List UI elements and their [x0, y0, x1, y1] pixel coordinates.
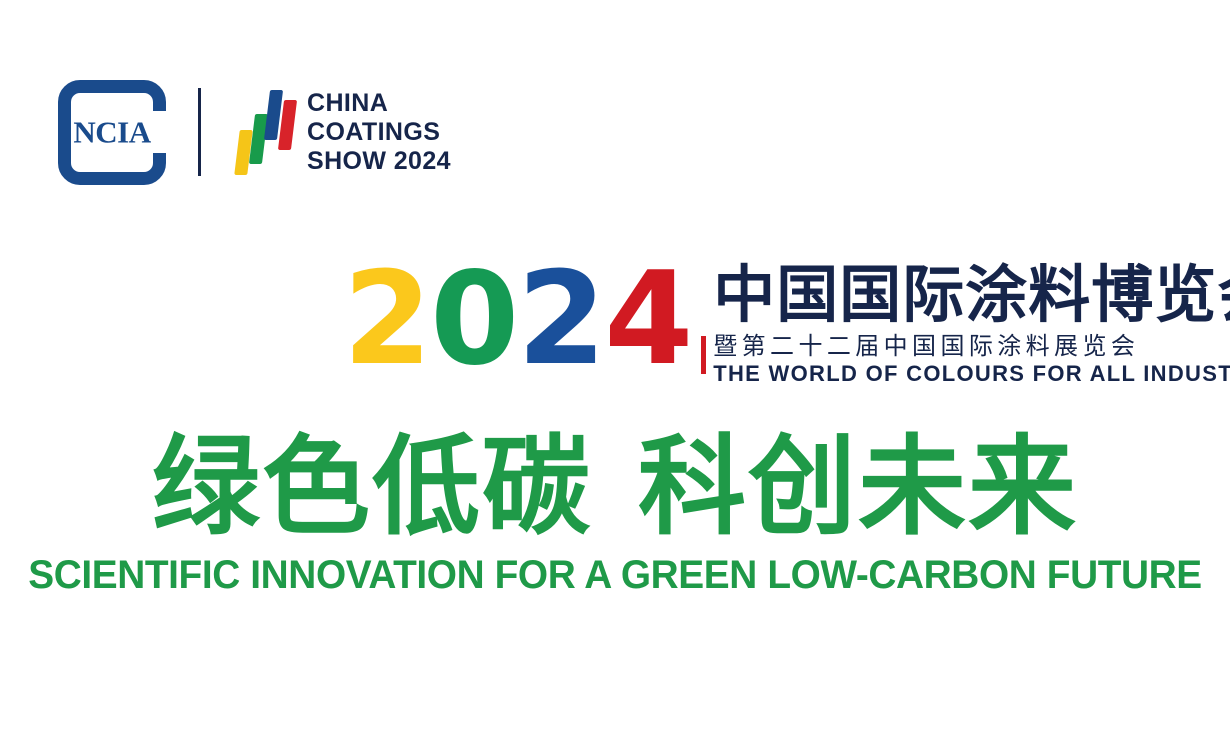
- four-color-bars-icon: [235, 88, 293, 176]
- year-digit-2: 0: [430, 245, 517, 394]
- year-2024: 2024: [343, 262, 691, 378]
- ccs-line-show-year: SHOW 2024: [307, 147, 451, 176]
- slogan-english: SCIENTIFIC INNOVATION FOR A GREEN LOW-CA…: [18, 552, 1211, 598]
- slogan-chinese-part2: 科创未来: [638, 425, 1078, 550]
- logo-divider: [198, 88, 201, 176]
- slogan-chinese-part1: 绿色低碳: [152, 425, 592, 550]
- red-accent-tick: [701, 336, 706, 374]
- event-subtitle-english: THE WORLD OF COLOURS FOR ALL INDUSTRIES: [713, 361, 1230, 387]
- year-digit-1: 2: [343, 245, 430, 394]
- slogan-chinese: 绿色低碳科创未来: [0, 432, 1230, 544]
- ccs-line-coatings: COATINGS: [307, 118, 451, 147]
- china-coatings-show-mark: CHINA COATINGS SHOW 2024: [235, 88, 451, 176]
- year-digit-3: 2: [517, 245, 604, 394]
- ncia-wordmark: NCIA: [58, 117, 166, 148]
- ccs-wordmark: CHINA COATINGS SHOW 2024: [307, 89, 451, 176]
- title-text-group: 中国国际涂料博览会 暨第二十二届中国国际涂料展览会 THE WORLD OF C…: [713, 262, 1230, 387]
- event-title-chinese: 中国国际涂料博览会: [713, 262, 1230, 328]
- year-digit-4: 4: [604, 245, 691, 394]
- header-logo-lockup: NCIA CHINA COATINGS SHOW 2024: [58, 78, 451, 186]
- ncia-logo: NCIA: [58, 80, 166, 185]
- ccs-line-china: CHINA: [307, 89, 451, 118]
- event-subtitle-chinese: 暨第二十二届中国国际涂料展览会: [713, 332, 1230, 360]
- title-block: 2024 中国国际涂料博览会 暨第二十二届中国国际涂料展览会 THE WORLD…: [343, 262, 1230, 387]
